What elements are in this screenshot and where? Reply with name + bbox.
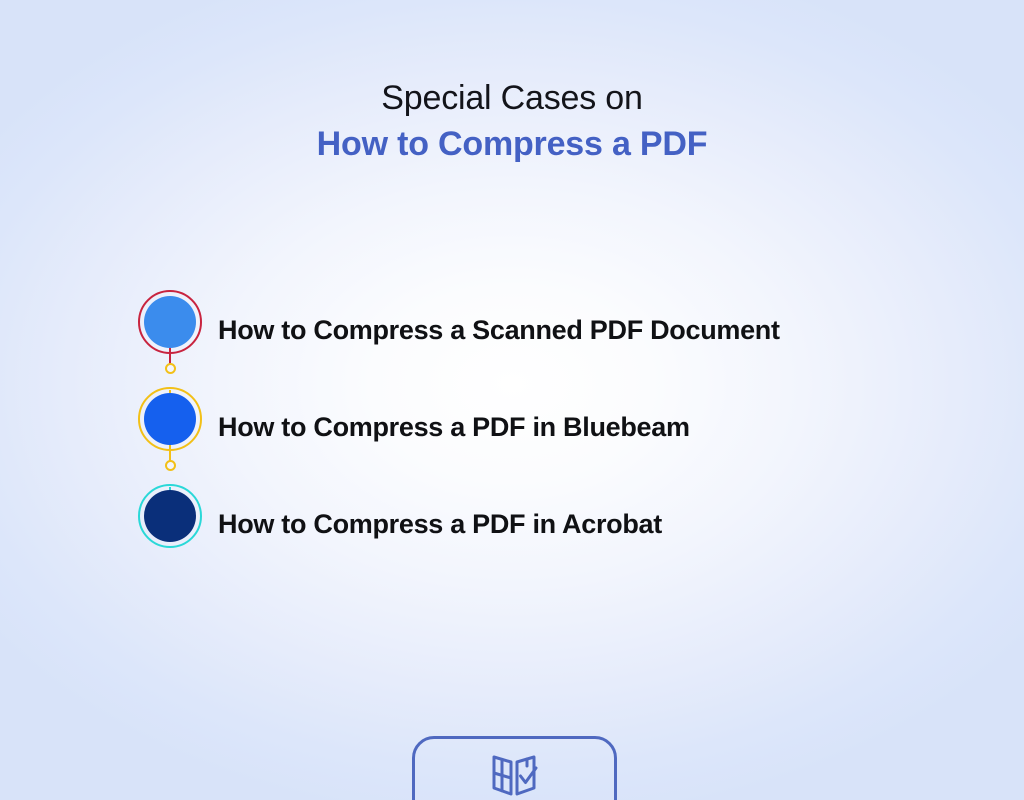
page-title-line1: Special Cases on [0, 78, 1024, 118]
book-checkmark-logo [489, 752, 541, 798]
timeline-item-label: How to Compress a PDF in Bluebeam [218, 412, 690, 443]
timeline-item-label: How to Compress a Scanned PDF Document [218, 315, 780, 346]
timeline-item-label: How to Compress a PDF in Acrobat [218, 509, 662, 540]
timeline-marker-3 [134, 476, 206, 573]
timeline-item-bluebeam[interactable]: How to Compress a PDF in Bluebeam [134, 379, 954, 476]
page-header: Special Cases on How to Compress a PDF [0, 78, 1024, 171]
marker-dot-3 [144, 490, 196, 542]
connector-joint-1 [165, 363, 176, 374]
timeline-list: How to Compress a Scanned PDF Document H… [134, 282, 954, 573]
connector-joint-2 [165, 460, 176, 471]
marker-dot-2 [144, 393, 196, 445]
timeline-item-scanned-pdf[interactable]: How to Compress a Scanned PDF Document [134, 282, 954, 379]
page-title-line2: How to Compress a PDF [0, 118, 1024, 171]
footer-logo-badge[interactable] [412, 736, 617, 800]
timeline-item-acrobat[interactable]: How to Compress a PDF in Acrobat [134, 476, 954, 573]
marker-dot-1 [144, 296, 196, 348]
